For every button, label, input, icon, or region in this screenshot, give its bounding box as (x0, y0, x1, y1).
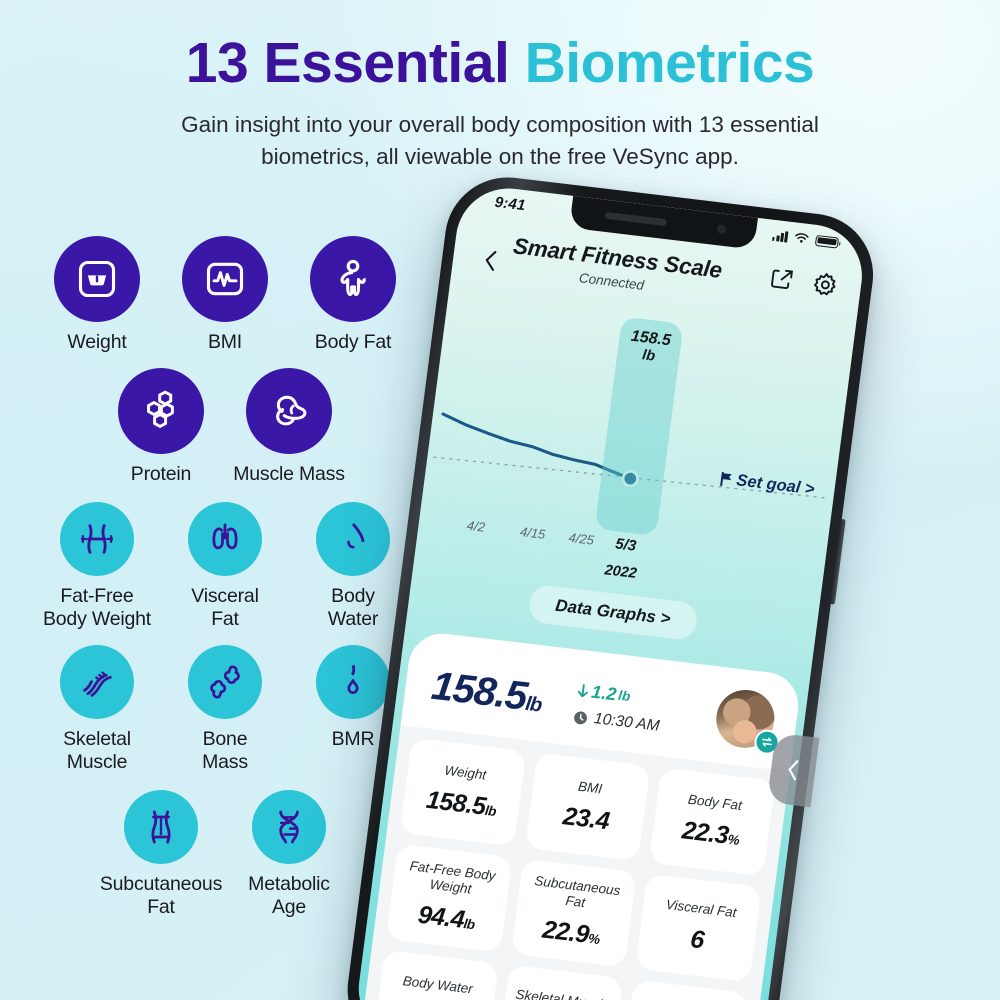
signal-bars-icon (772, 229, 788, 242)
metric-card-label: Fat-Free Body Weight (397, 857, 505, 901)
body-figure-icon (331, 257, 375, 301)
biometric-circle (188, 502, 262, 576)
metric-card-value: 158.5lb (424, 786, 498, 823)
waist-icon (77, 519, 117, 559)
current-weight: 158.5lb (429, 664, 545, 722)
biometric-item-skeletal-muscle: SkeletalMuscle (33, 645, 161, 774)
skin-layer-icon (141, 807, 181, 847)
current-weight-unit: lb (524, 693, 543, 717)
metric-card[interactable]: Body Fat22.3% (649, 767, 775, 876)
metric-card-unit: lb (484, 803, 497, 819)
page-subtitle-line1: Gain insight into your overall body comp… (0, 109, 1000, 141)
chevron-left-icon (785, 758, 802, 781)
biometric-circle (60, 645, 134, 719)
scale-icon (75, 257, 119, 301)
biometric-label: BoneMass (202, 728, 248, 774)
biometric-label: Weight (67, 331, 126, 354)
biometric-label: Fat-FreeBody Weight (43, 585, 151, 631)
biometric-item-bmi: BMI (161, 236, 289, 354)
status-time: 9:41 (494, 194, 527, 215)
metric-card-label: Subcutaneous Fat (522, 872, 630, 916)
metric-card-value: 23.4 (561, 802, 611, 836)
page-title-part1: 13 Essential (186, 31, 510, 95)
biometric-label: SkeletalMuscle (63, 728, 131, 774)
metric-card[interactable]: Subcutaneous Fat22.9% (511, 859, 637, 968)
metric-card-label: Visceral Fat (665, 897, 738, 921)
chart-x-tick: 4/2 (466, 518, 486, 535)
dna-icon (269, 807, 309, 847)
biometric-circle (124, 790, 198, 864)
metric-card[interactable]: Weight158.5lb (400, 738, 526, 847)
weight-delta: 1.2lb (575, 680, 631, 707)
biometric-item-metabolic-age: MetabolicAge (225, 790, 353, 919)
metric-card-label: Weight (444, 763, 488, 784)
biometric-label: VisceralFat (191, 585, 258, 631)
page-title: 13 Essential Biometrics (0, 34, 1000, 93)
metric-card[interactable]: BMI23.4 (525, 752, 651, 861)
measurement-time: 10:30 AM (572, 708, 660, 736)
metric-card[interactable]: Muscle Mass90.0lb (622, 980, 748, 1000)
biometric-item-weight: Weight (33, 236, 161, 354)
data-graphs-button[interactable]: Data Graphs > (527, 584, 698, 642)
metric-card-label: BMI (577, 779, 603, 798)
metric-card[interactable]: Skeletal Muscle43.5% (497, 965, 623, 1000)
page-subtitle-line2: biometrics, all viewable on the free VeS… (0, 141, 1000, 173)
metric-card-value: 22.9% (541, 916, 602, 952)
biometric-circle (316, 645, 390, 719)
header: 13 Essential Biometrics Gain insight int… (0, 34, 1000, 173)
flame-icon (333, 662, 373, 702)
metric-card[interactable]: Visceral Fat6 (636, 873, 762, 982)
biometric-item-fat-free-body-weight: Fat-FreeBody Weight (33, 502, 161, 631)
biometric-label: BodyWater (328, 585, 378, 631)
muscle-fiber-icon (77, 662, 117, 702)
flexed-arm-icon (267, 389, 311, 433)
arrow-down-icon (576, 683, 591, 699)
biometric-circle (182, 236, 268, 322)
biometric-item-subcutaneous-fat: SubcutaneousFat (97, 790, 225, 919)
biometric-circle (118, 368, 204, 454)
metric-card-unit: lb (463, 916, 476, 932)
biometric-circle (54, 236, 140, 322)
chart-tooltip-value: 158.5 (630, 328, 672, 350)
metric-card-value: 22.3% (680, 816, 741, 852)
biometric-circle (246, 368, 332, 454)
biometric-label: Protein (131, 463, 191, 486)
biometric-circle (310, 236, 396, 322)
chart-year-label: 2022 (604, 562, 638, 582)
measurement-time-label: 10:30 AM (593, 710, 661, 736)
biometric-item-bone-mass: BoneMass (161, 645, 289, 774)
chart-x-tick: 4/25 (568, 530, 595, 548)
metric-card[interactable]: Body Water51.5% (372, 950, 498, 1000)
measurement-sheet: 158.5lb 1.2lb (360, 630, 802, 1000)
metric-card-label: Skeletal Muscle (515, 987, 611, 1000)
metric-card-unit: % (727, 832, 740, 848)
wifi-icon (793, 231, 810, 245)
biometric-label: Body Fat (315, 331, 391, 354)
weight-delta-value: 1.2 (590, 682, 618, 706)
biometrics-row: WeightBMIBody Fat (0, 236, 450, 354)
chart-tooltip: 158.5 lb (628, 328, 672, 367)
phone-side-button[interactable] (830, 519, 846, 605)
biometric-circle (316, 502, 390, 576)
biometrics-row: ProteinMuscle Mass (0, 368, 450, 486)
flag-icon (719, 471, 734, 487)
clock-icon (572, 709, 589, 726)
current-weight-value: 158.5 (429, 664, 529, 719)
biometric-circle (252, 790, 326, 864)
metric-card-value: 6 (689, 925, 706, 955)
water-drop-icon (333, 519, 373, 559)
metric-card-unit: % (587, 931, 600, 947)
biometrics-row: Fat-FreeBody WeightVisceralFatBodyWater (0, 502, 450, 631)
biometric-item-muscle-mass: Muscle Mass (225, 368, 353, 486)
biometric-label: BMR (332, 728, 375, 751)
biometric-item-visceral-fat: VisceralFat (161, 502, 289, 631)
metric-card-value: 94.4lb (416, 901, 476, 937)
metric-card-label: Body Fat (687, 792, 743, 814)
biometric-circle (188, 645, 262, 719)
page-subtitle: Gain insight into your overall body comp… (0, 109, 1000, 173)
biometric-label: Muscle Mass (233, 463, 345, 486)
biometric-item-protein: Protein (97, 368, 225, 486)
biometric-label: MetabolicAge (248, 873, 330, 919)
metric-card[interactable]: Fat-Free Body Weight94.4lb (386, 844, 512, 953)
page-title-part2: Biometrics (525, 31, 815, 95)
biometric-label: BMI (208, 331, 242, 354)
biometric-label: SubcutaneousFat (100, 873, 222, 919)
share-icon[interactable] (768, 265, 797, 294)
chart-x-tick: 4/15 (519, 524, 546, 542)
heart-rate-monitor-icon (203, 257, 247, 301)
chart-x-tick: 5/3 (614, 535, 637, 554)
gear-icon[interactable] (810, 270, 840, 300)
molecule-icon (139, 389, 183, 433)
battery-icon (815, 234, 839, 248)
promo-graphic: 13 Essential Biometrics Gain insight int… (0, 0, 1000, 1000)
metric-cards: Weight158.5lbBMI23.4Body Fat22.3%Fat-Fre… (358, 738, 775, 1000)
weight-delta-unit: lb (617, 688, 631, 704)
status-icons (772, 229, 839, 249)
biometric-circle (60, 502, 134, 576)
lungs-icon (205, 519, 245, 559)
weight-chart[interactable]: 158.5 lb Set goal > 4/24/154/255/3 2022 (415, 286, 855, 602)
bone-joint-icon (205, 662, 245, 702)
biometric-item-body-fat: Body Fat (289, 236, 417, 354)
metric-card-label: Body Water (402, 973, 474, 997)
